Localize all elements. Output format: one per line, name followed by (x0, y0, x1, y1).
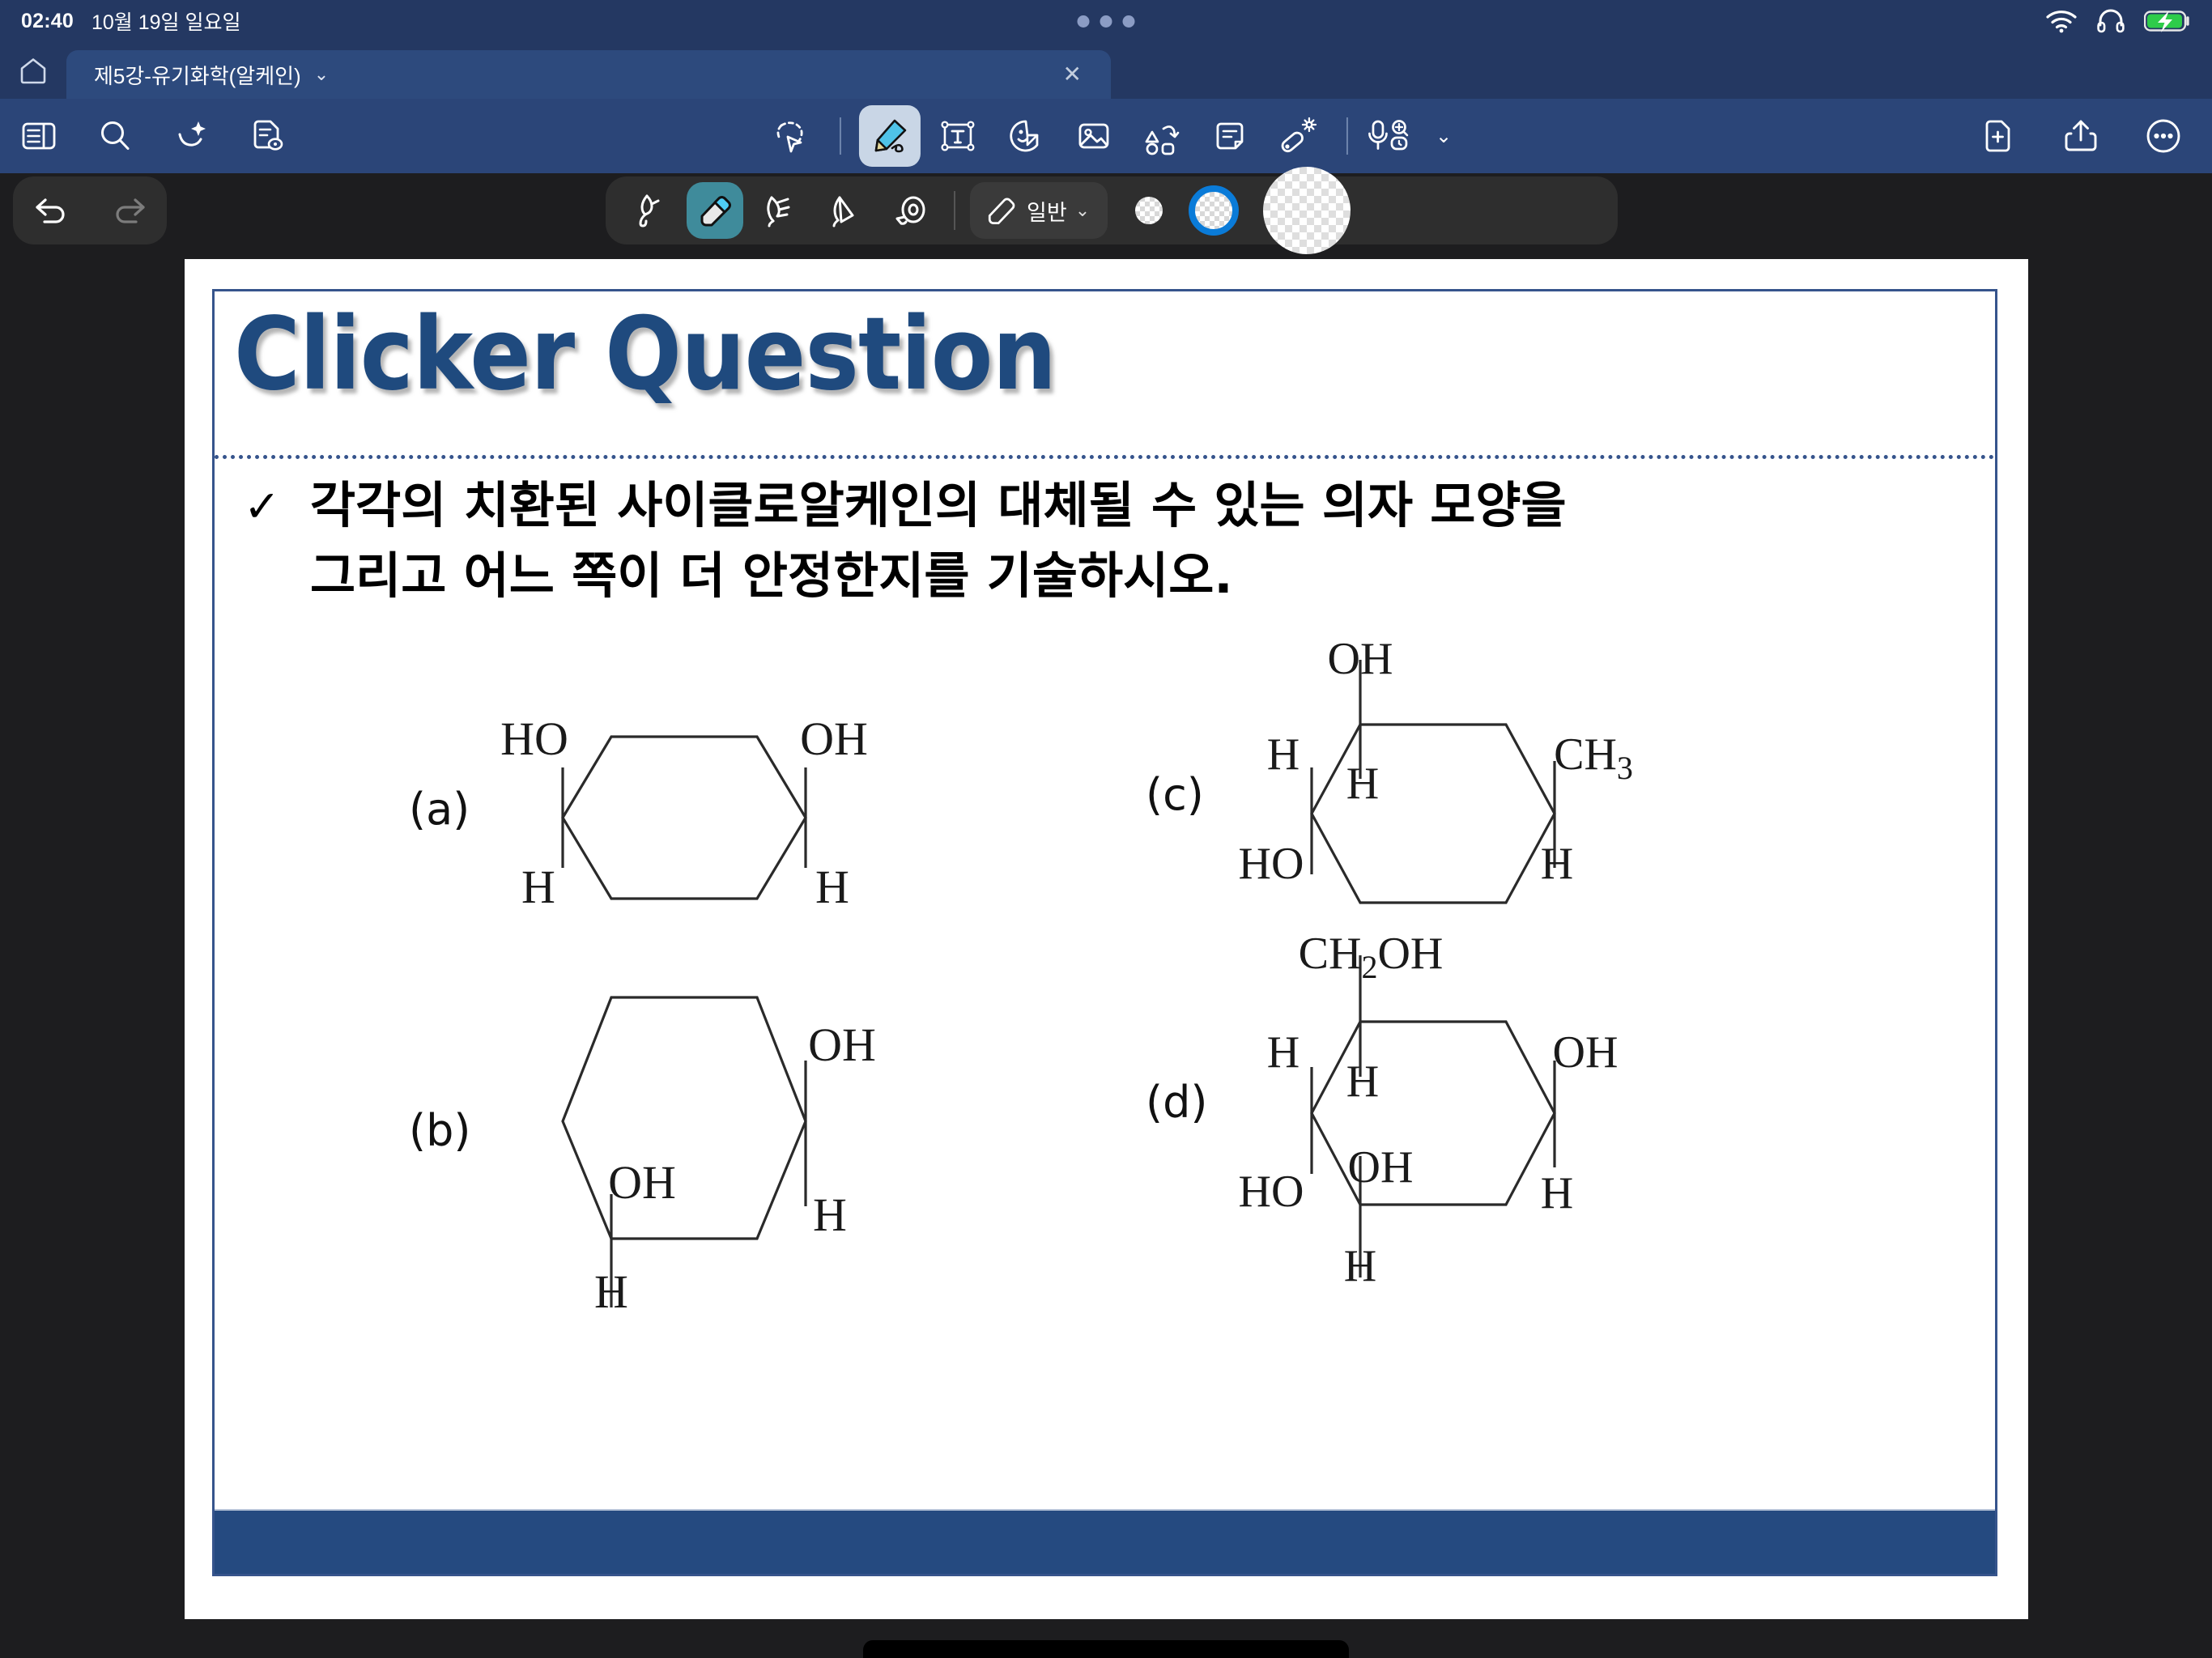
label-h-right: H (815, 861, 849, 913)
label-ho: HO (1239, 1167, 1304, 1217)
label-h-bottom: H (1344, 1241, 1376, 1291)
pen-icon (870, 116, 910, 156)
image-icon (1074, 117, 1113, 155)
body-line-1: 각각의 치환된 사이클로알케인의 대체될 수 있는 의자 모양을 (310, 471, 1971, 542)
more-options-icon (2144, 117, 2183, 155)
structure-b-label: (b) (409, 1105, 470, 1156)
label-oh-inner: OH (1348, 1142, 1414, 1192)
sticker-button[interactable] (995, 105, 1057, 167)
note-button[interactable] (1199, 105, 1261, 167)
main-toolbar: ⌄ (0, 99, 2212, 173)
fountain-pen-icon (631, 191, 670, 230)
laser-pointer-button[interactable] (1267, 105, 1329, 167)
home-button[interactable] (0, 42, 66, 99)
slide-frame: Clicker Question ✓ 각각의 치환된 사이클로알케인의 대체될 … (212, 289, 1997, 1576)
redo-icon[interactable] (108, 192, 150, 229)
status-bar-left: 02:40 10월 19일 일요일 (0, 6, 240, 36)
swatch-small[interactable] (1135, 197, 1163, 224)
slide-body-lines: 각각의 치환된 사이클로알케인의 대체될 수 있는 의자 모양을 그리고 어느 … (310, 471, 1971, 611)
label-h-right: H (1541, 839, 1573, 889)
mic-recording-icon (1367, 116, 1427, 156)
chevron-down-icon[interactable]: ⌄ (314, 66, 329, 83)
shape-tool-icon (890, 191, 929, 230)
pen-toolbar-divider (954, 191, 955, 230)
eraser-mode-icon (983, 193, 1019, 228)
label-h-right: H (813, 1188, 847, 1241)
title-divider (215, 455, 1995, 459)
toolbar-center-group: ⌄ (760, 99, 1452, 173)
tab-bar: 제5강-유기화학(알케인) ⌄ ✕ (0, 42, 2212, 99)
status-bar: 02:40 10월 19일 일요일 (0, 0, 2212, 42)
undo-icon[interactable] (31, 192, 73, 229)
label-oh-top: OH (1328, 640, 1393, 684)
label-ho: HO (1239, 839, 1304, 889)
label-oh-right: OH (808, 1018, 876, 1071)
headphones-icon (2097, 9, 2125, 33)
toolbar-right-group (1967, 99, 2194, 173)
sticker-icon (1006, 117, 1045, 155)
share-icon (2062, 117, 2099, 155)
label-ch2oh: CH2OH (1299, 931, 1444, 985)
eraser-mode-label: 일반 (1027, 195, 1067, 227)
dynamic-island-dots (1078, 15, 1135, 28)
add-page-button[interactable] (1967, 105, 2029, 167)
home-indicator[interactable] (863, 1640, 1349, 1658)
structure-d: (d) CH2OH H H OH (1146, 931, 1664, 1336)
brush-pen-icon (760, 191, 799, 230)
more-options-button[interactable] (2133, 105, 2194, 167)
pen-toolbar-row: 일반 ⌄ (0, 173, 2212, 248)
document-preview-icon (249, 117, 286, 155)
swatch-selected[interactable] (1189, 185, 1239, 236)
structure-c-diagram: OH H H CH3 HO H (1146, 640, 1664, 947)
document-page[interactable]: Clicker Question ✓ 각각의 치환된 사이클로알케인의 대체될 … (185, 259, 2028, 1619)
status-date: 10월 19일 일요일 (91, 6, 241, 36)
structure-area: (a) HO OH H H (215, 640, 1995, 1562)
shapes-button[interactable] (1131, 105, 1193, 167)
highlighter-icon (825, 191, 864, 230)
shape-tool-button[interactable] (881, 182, 938, 239)
ai-sparkle-icon (172, 117, 210, 155)
search-button[interactable] (84, 105, 146, 167)
text-box-icon (938, 117, 977, 155)
dot-3 (1123, 15, 1135, 28)
slide-title-zone: Clicker Question (215, 291, 1995, 453)
sidebar-panel-icon (20, 117, 57, 155)
fountain-pen-button[interactable] (622, 182, 678, 239)
label-ho: HO (500, 712, 568, 765)
image-button[interactable] (1063, 105, 1125, 167)
label-ch3: CH3 (1554, 729, 1633, 786)
status-time: 02:40 (21, 10, 74, 33)
pen-tool-button[interactable] (859, 105, 921, 167)
toolbar-divider-2 (1346, 117, 1348, 155)
page-title: Clicker Question (234, 296, 1056, 413)
label-h-inner: H (1346, 1056, 1379, 1107)
slide-footer-band (215, 1509, 1995, 1574)
document-preview-button[interactable] (236, 105, 298, 167)
slide-body: ✓ 각각의 치환된 사이클로알케인의 대체될 수 있는 의자 모양을 그리고 어… (244, 471, 1971, 611)
status-bar-right (2045, 9, 2191, 33)
share-button[interactable] (2050, 105, 2112, 167)
mic-recording-button[interactable] (1366, 105, 1427, 167)
note-icon (1210, 117, 1249, 155)
lasso-select-icon (771, 116, 811, 156)
app-root: 02:40 10월 19일 일요일 (0, 0, 2212, 1658)
tab-title: 제5강-유기화학(알케인) (94, 60, 301, 90)
structure-a-diagram: HO OH H H (409, 688, 911, 931)
toolbar-divider-1 (840, 117, 841, 155)
ai-assistant-button[interactable] (160, 105, 222, 167)
label-h-inner: H (1346, 759, 1379, 809)
structure-c: (c) OH H H CH3 HO (1146, 640, 1664, 947)
label-h-right: H (1541, 1168, 1573, 1218)
battery-charging-icon (2144, 9, 2191, 33)
undo-redo-group (13, 176, 167, 244)
chevron-down-icon[interactable]: ⌄ (1075, 200, 1090, 221)
home-icon (18, 55, 49, 86)
structure-a-label: (a) (409, 784, 470, 835)
eraser-tool-button[interactable] (687, 182, 743, 239)
structure-b: (b) OH OH H H (409, 963, 911, 1320)
sidebar-panel-button[interactable] (8, 105, 70, 167)
structure-d-label: (d) (1146, 1077, 1207, 1128)
swatch-large[interactable] (1263, 167, 1351, 254)
text-box-button[interactable] (927, 105, 989, 167)
add-page-icon (1980, 117, 2017, 155)
highlighter-button[interactable] (816, 182, 873, 239)
label-oh: OH (800, 712, 868, 765)
chevron-down-icon[interactable]: ⌄ (1436, 125, 1452, 148)
document-tab[interactable]: 제5강-유기화학(알케인) ⌄ ✕ (66, 50, 1111, 99)
structure-d-diagram: CH2OH H H OH OH HO H H (1146, 931, 1664, 1336)
brush-pen-button[interactable] (751, 182, 808, 239)
search-icon (96, 117, 134, 155)
body-line-2: 그리고 어느 쪽이 더 안정한지를 기술하시오. (310, 542, 1971, 612)
structure-c-label: (c) (1146, 769, 1204, 820)
pen-tool-bar: 일반 ⌄ (606, 176, 1618, 244)
close-icon[interactable]: ✕ (1063, 63, 1082, 86)
dot-1 (1078, 15, 1090, 28)
label-h-upper-left: H (1267, 1027, 1300, 1078)
structure-b-diagram: OH OH H H (409, 963, 911, 1320)
wifi-icon (2045, 9, 2078, 33)
label-h-upper-left: H (1267, 729, 1300, 780)
check-icon: ✓ (244, 476, 280, 538)
label-h-bottom: H (594, 1265, 628, 1318)
dot-2 (1100, 15, 1112, 28)
structure-a: (a) HO OH H H (409, 688, 911, 931)
shapes-icon (1142, 116, 1182, 156)
eraser-icon (696, 191, 734, 230)
label-oh-right: OH (1553, 1027, 1619, 1078)
toolbar-left-group (8, 99, 298, 173)
label-oh-inner: OH (608, 1156, 676, 1209)
label-h-left: H (521, 861, 555, 913)
lasso-select-button[interactable] (760, 105, 822, 167)
laser-pointer-icon (1278, 116, 1318, 156)
eraser-mode-chip[interactable]: 일반 ⌄ (970, 182, 1108, 239)
